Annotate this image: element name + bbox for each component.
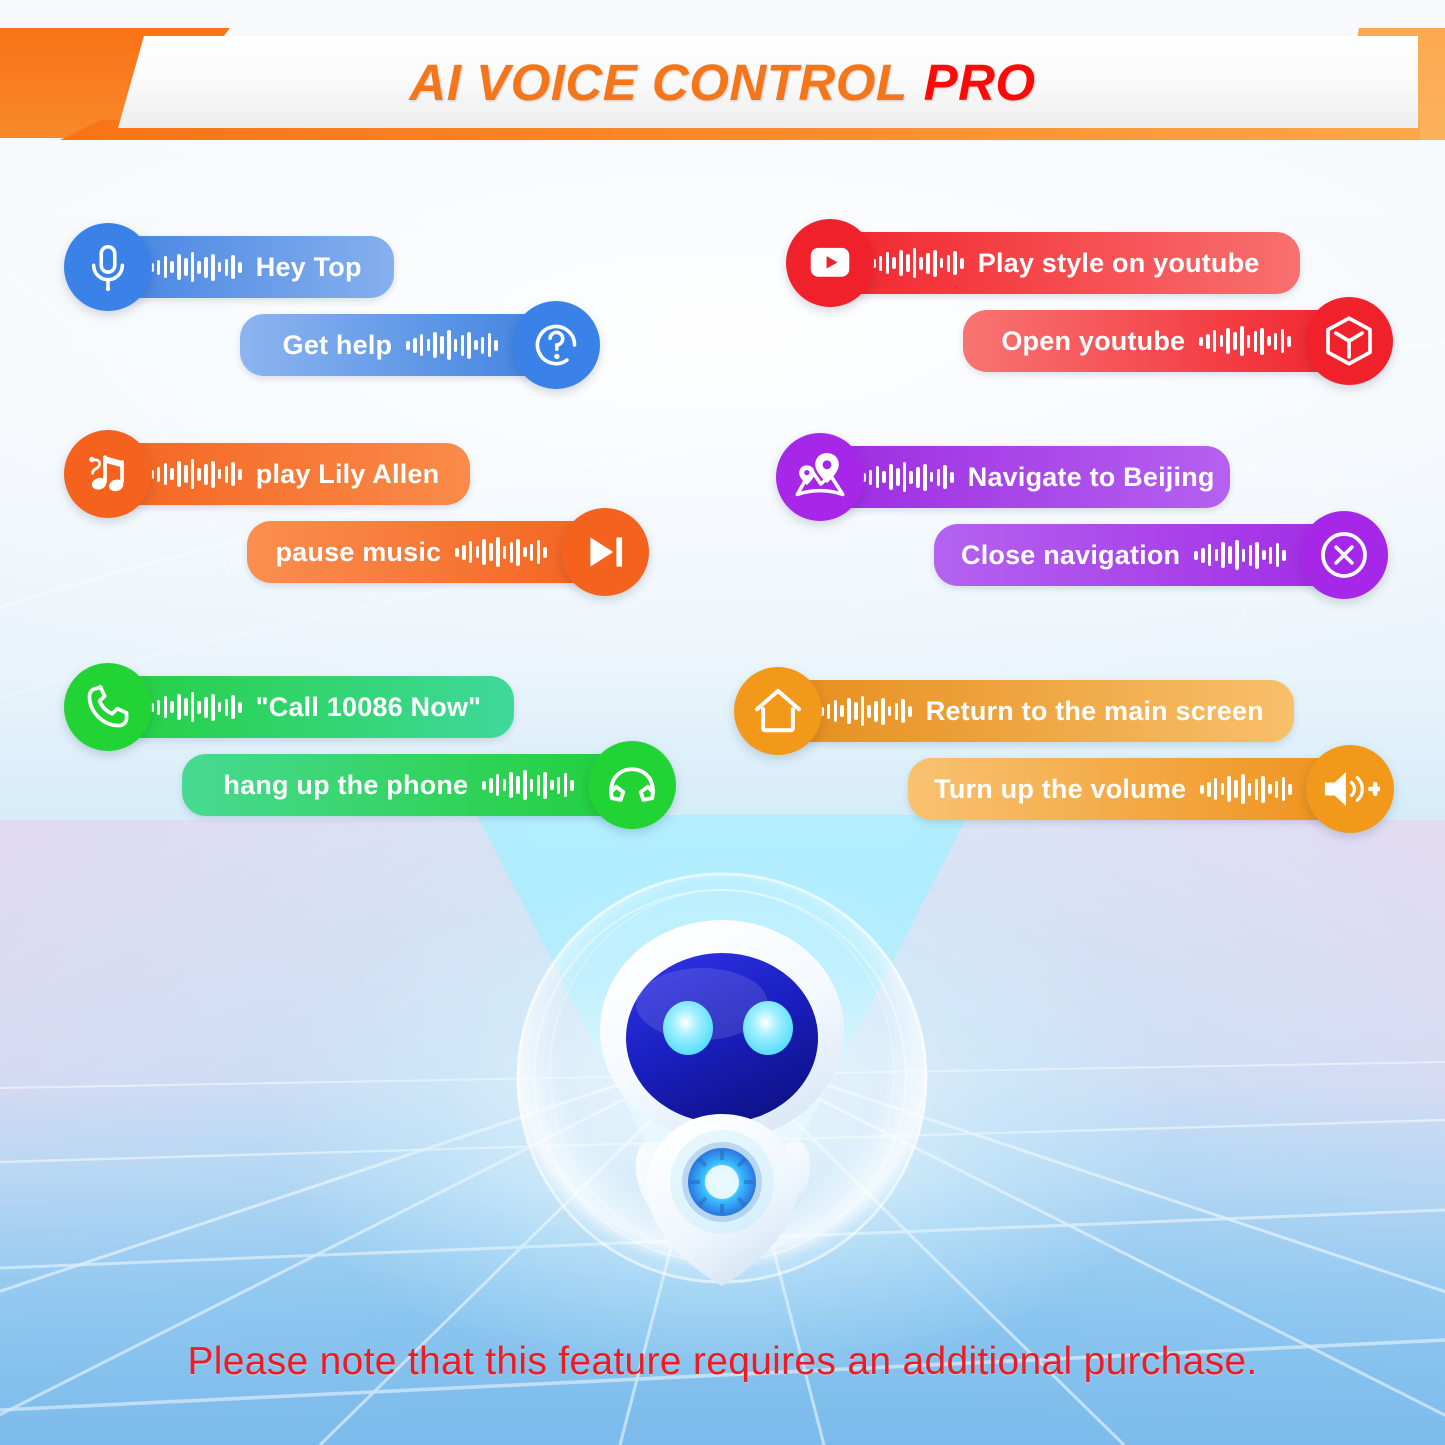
voice-command-open-youtube[interactable]: Open youtube	[963, 310, 1363, 372]
voice-command-wake-word[interactable]: Hey Top	[78, 236, 394, 298]
command-bar-volume-up[interactable]: Turn up the volume	[908, 758, 1364, 820]
circle-x-icon[interactable]	[1300, 511, 1388, 599]
waveform-icon	[872, 248, 964, 278]
command-label: pause music	[275, 537, 441, 568]
home-icon[interactable]	[734, 667, 822, 755]
mascot-eye-right	[743, 1001, 793, 1055]
waveform-icon	[482, 770, 574, 800]
voice-command-call-number[interactable]: "Call 10086 Now"	[78, 676, 514, 738]
header-banner: AI VOICE CONTROL PRO	[0, 0, 1445, 150]
phone-hangup-icon[interactable]	[588, 741, 676, 829]
voice-command-play-artist[interactable]: play Lily Allen	[78, 443, 470, 505]
command-label: Return to the main screen	[926, 696, 1264, 727]
command-label: Close navigation	[961, 540, 1180, 571]
command-label: Open youtube	[1001, 326, 1185, 357]
youtube-icon[interactable]	[786, 219, 874, 307]
command-label: Get help	[283, 330, 393, 361]
voice-command-volume-up[interactable]: Turn up the volume	[908, 758, 1364, 820]
waveform-icon	[406, 330, 498, 360]
waveform-icon	[1199, 326, 1291, 356]
command-bar-play-youtube[interactable]: Play style on youtube	[800, 232, 1300, 294]
voice-command-home-screen[interactable]: Return to the main screen	[748, 680, 1294, 742]
voice-command-pause-music[interactable]: pause music	[247, 521, 619, 583]
waveform-icon	[150, 692, 242, 722]
volume-up-icon[interactable]	[1306, 745, 1394, 833]
waveform-icon	[820, 696, 912, 726]
waveform-icon	[862, 462, 954, 492]
microphone-icon[interactable]	[64, 223, 152, 311]
purchase-note: Please note that this feature requires a…	[0, 1340, 1445, 1384]
command-bar-open-youtube[interactable]: Open youtube	[963, 310, 1363, 372]
command-label: Turn up the volume	[934, 774, 1186, 805]
command-bar-close-navigation[interactable]: Close navigation	[934, 524, 1358, 586]
voice-command-play-youtube[interactable]: Play style on youtube	[800, 232, 1300, 294]
phone-call-icon[interactable]	[64, 663, 152, 751]
ai-robot-mascot	[506, 862, 938, 1302]
waveform-icon	[150, 459, 242, 489]
cube-y-icon[interactable]	[1305, 297, 1393, 385]
voice-command-hang-up[interactable]: hang up the phone	[182, 754, 646, 816]
voice-command-get-help[interactable]: Get help	[240, 314, 570, 376]
waveform-icon	[455, 537, 547, 567]
command-bar-home-screen[interactable]: Return to the main screen	[748, 680, 1294, 742]
page-title: AI VOICE CONTROL PRO	[0, 36, 1445, 128]
command-label: "Call 10086 Now"	[256, 692, 481, 723]
waveform-icon	[150, 252, 242, 282]
waveform-icon	[1200, 774, 1292, 804]
poster-canvas: AI VOICE CONTROL PRO Hey Top Get help pl…	[0, 0, 1445, 1445]
music-note-icon[interactable]	[64, 430, 152, 518]
page-title-main: AI VOICE CONTROL	[409, 53, 907, 112]
command-label: play Lily Allen	[256, 459, 440, 490]
question-mark-icon[interactable]	[512, 301, 600, 389]
waveform-icon	[1194, 540, 1286, 570]
command-label: Navigate to Beijing	[968, 462, 1215, 493]
mascot-eye-left	[663, 1001, 713, 1055]
command-label: Hey Top	[256, 252, 362, 283]
play-pause-next-icon[interactable]	[561, 508, 649, 596]
map-pin-icon[interactable]	[776, 433, 864, 521]
command-label: hang up the phone	[223, 770, 468, 801]
voice-command-navigate[interactable]: Navigate to Beijing	[790, 446, 1230, 508]
command-label: Play style on youtube	[978, 248, 1260, 279]
voice-command-close-navigation[interactable]: Close navigation	[934, 524, 1358, 586]
command-bar-hang-up[interactable]: hang up the phone	[182, 754, 646, 816]
page-title-accent: PRO	[924, 53, 1036, 112]
